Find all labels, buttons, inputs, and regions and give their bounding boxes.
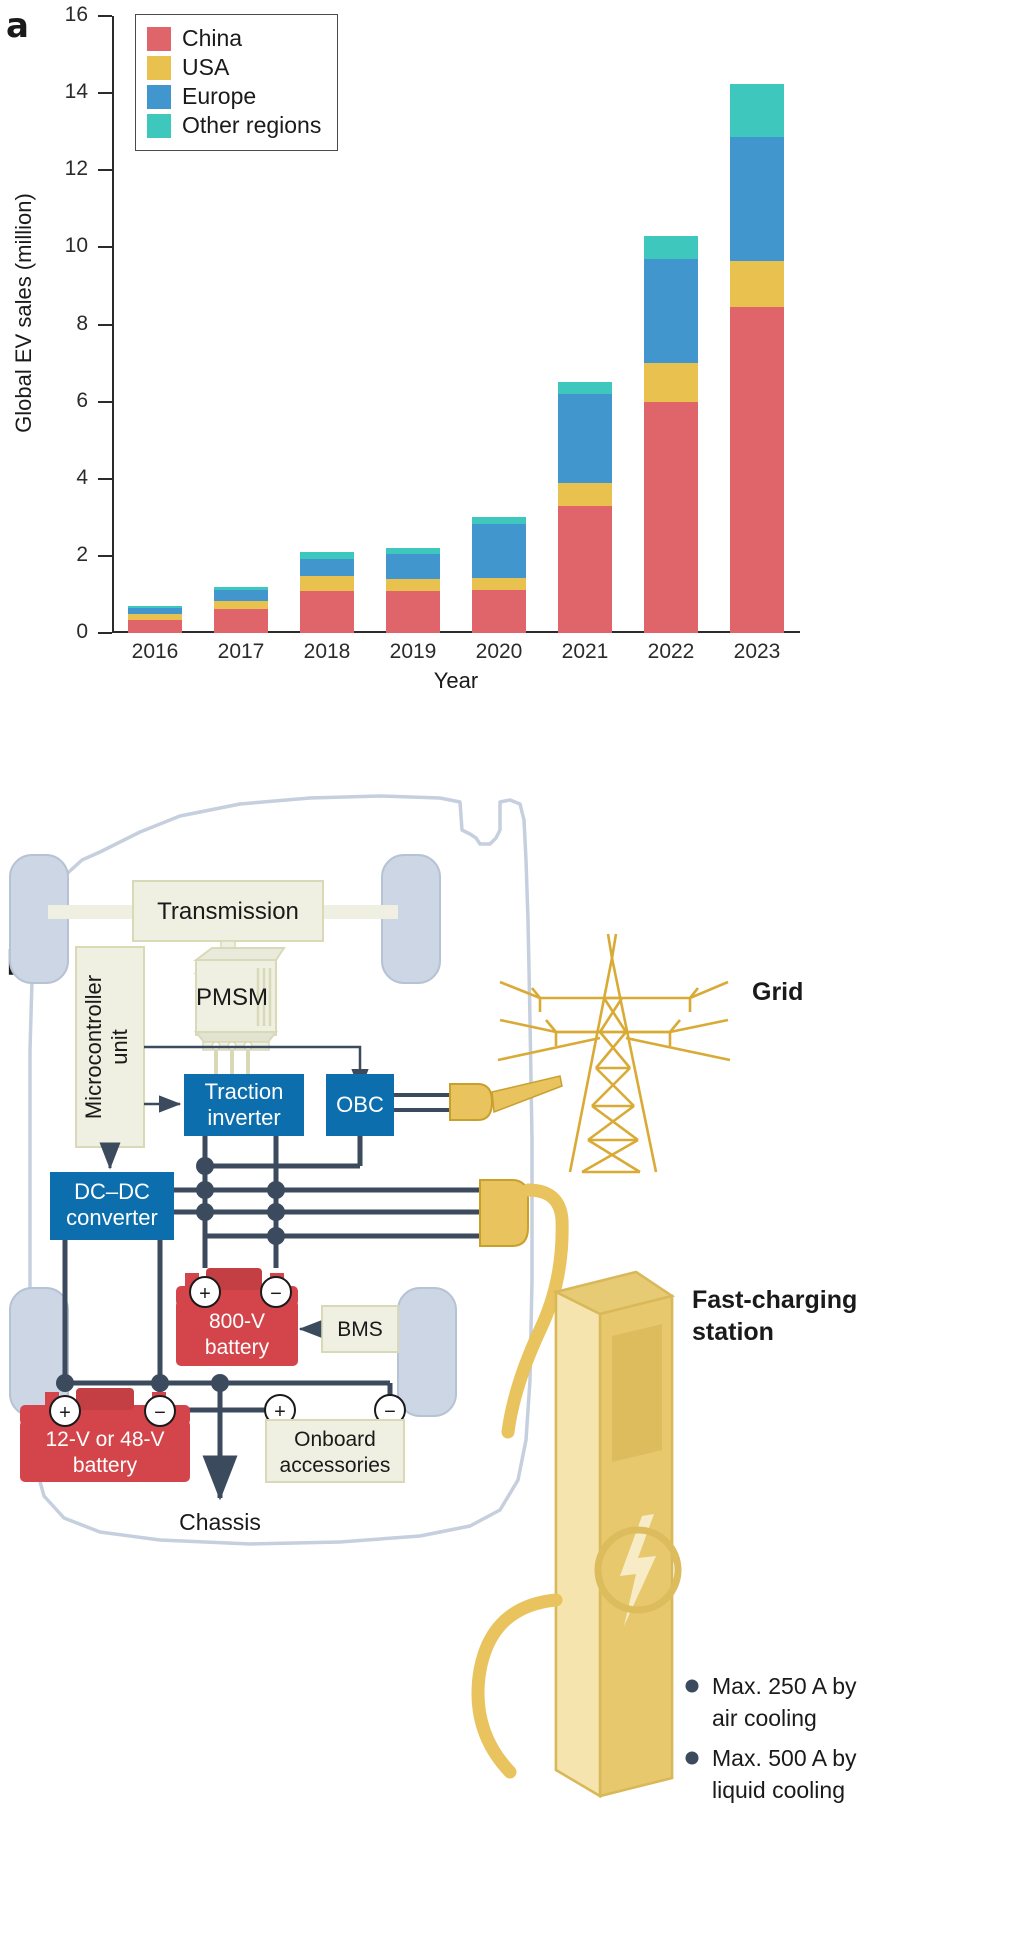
y-tick — [98, 169, 112, 171]
bar-group — [128, 606, 182, 633]
traction-inverter-label-line2: inverter — [207, 1105, 280, 1130]
bar-segment-other-regions — [214, 587, 268, 590]
y-tick — [98, 401, 112, 403]
ev-architecture-svg: Transmission PMSM — [0, 720, 1034, 1949]
bar-group — [730, 83, 784, 633]
y-tick — [98, 555, 112, 557]
microcontroller-unit-block: Microcontroller unit — [76, 947, 144, 1147]
x-tick-label: 2023 — [714, 640, 800, 664]
panel-a-label: a — [6, 6, 29, 46]
bar-segment-usa — [128, 614, 182, 620]
bar-segment-other-regions — [472, 517, 526, 524]
panel-b-diagram: b Transmission — [0, 720, 1034, 1949]
bar-segment-china — [214, 609, 268, 633]
chart-legend: ChinaUSAEuropeOther regions — [135, 14, 338, 151]
fast-charging-label-line2: station — [692, 1318, 774, 1346]
bullet-dot-1 — [686, 1680, 699, 1693]
legend-row: Europe — [147, 82, 321, 111]
bar-segment-europe — [644, 259, 698, 363]
x-tick-label: 2022 — [628, 640, 714, 664]
legend-label: Europe — [182, 85, 256, 108]
y-tick-label: 6 — [44, 389, 88, 413]
y-tick — [98, 246, 112, 248]
bar-segment-china — [644, 402, 698, 633]
bar-segment-usa — [300, 576, 354, 591]
x-tick-label: 2019 — [370, 640, 456, 664]
battery-12v-48v: + − 12-V or 48-V battery — [20, 1388, 190, 1482]
bar-group — [558, 382, 612, 633]
y-tick-label: 8 — [44, 312, 88, 336]
traction-inverter-label-line1: Traction — [205, 1079, 284, 1104]
bar-segment-china — [730, 307, 784, 633]
chassis-label: Chassis — [179, 1509, 261, 1535]
microcontroller-label-line2: unit — [107, 1029, 132, 1064]
y-tick-label: 16 — [44, 3, 88, 27]
obc-block: OBC — [326, 1074, 394, 1136]
dcdc-converter-block: DC–DC converter — [50, 1172, 174, 1240]
fast-charging-label-line1: Fast-charging — [692, 1286, 857, 1314]
battery-lv-plus-terminal: + — [59, 1402, 71, 1424]
battery-800v-label-line1: 800-V — [209, 1310, 265, 1333]
legend-label: USA — [182, 56, 229, 79]
bar-group — [214, 587, 268, 633]
legend-label: China — [182, 27, 242, 50]
x-tick-label: 2018 — [284, 640, 370, 664]
bar-segment-europe — [214, 590, 268, 601]
bar-group — [472, 517, 526, 633]
bar-segment-other-regions — [644, 236, 698, 259]
panel-a-chart: a Global EV sales (million) Year 0246810… — [0, 0, 1034, 720]
y-tick — [98, 92, 112, 94]
charging-spec-bullets: Max. 250 A by air cooling Max. 500 A by … — [686, 1673, 857, 1803]
bar-segment-china — [558, 506, 612, 633]
x-axis-title: Year — [112, 668, 800, 694]
wheel-rear-right — [398, 1288, 456, 1416]
bms-label: BMS — [337, 1318, 383, 1341]
obc-label: OBC — [336, 1092, 384, 1117]
y-tick — [98, 632, 112, 634]
bar-segment-china — [128, 620, 182, 633]
legend-swatch-icon — [147, 85, 171, 109]
transmission-block: Transmission — [133, 881, 323, 941]
grid-label: Grid — [752, 978, 803, 1006]
x-tick-label: 2017 — [198, 640, 284, 664]
accessories-label-line2: accessories — [280, 1454, 391, 1477]
bullet-2-line2: liquid cooling — [712, 1777, 845, 1803]
dcdc-label-line1: DC–DC — [74, 1179, 150, 1204]
battery-800v-minus-terminal: − — [270, 1283, 282, 1305]
dcdc-label-line2: converter — [66, 1205, 158, 1230]
bar-segment-europe — [730, 137, 784, 260]
x-tick-label: 2016 — [112, 640, 198, 664]
bar-segment-europe — [472, 524, 526, 578]
bar-segment-other-regions — [128, 606, 182, 608]
bar-segment-other-regions — [558, 382, 612, 394]
battery-lv-minus-terminal: − — [154, 1402, 166, 1424]
bar-segment-usa — [386, 579, 440, 591]
bar-segment-other-regions — [300, 552, 354, 559]
bar-segment-china — [386, 591, 440, 633]
bar-group — [300, 552, 354, 633]
battery-800v-plus-terminal: + — [199, 1283, 211, 1305]
bar-segment-other-regions — [730, 84, 784, 138]
bar-segment-usa — [644, 363, 698, 402]
battery-lv-label-line1: 12-V or 48-V — [45, 1428, 164, 1451]
legend-swatch-icon — [147, 56, 171, 80]
pmsm-label: PMSM — [196, 984, 268, 1011]
battery-800v-label-line2: battery — [205, 1336, 270, 1359]
bar-segment-usa — [472, 578, 526, 590]
y-tick — [98, 478, 112, 480]
y-tick — [98, 15, 112, 17]
bar-segment-europe — [300, 559, 354, 576]
bar-segment-europe — [558, 394, 612, 483]
bar-segment-china — [472, 590, 526, 633]
bullet-2-line1: Max. 500 A by — [712, 1745, 857, 1771]
y-tick-label: 2 — [44, 543, 88, 567]
legend-row: China — [147, 24, 321, 53]
traction-inverter-block: Traction inverter — [184, 1074, 304, 1136]
bullet-1-line1: Max. 250 A by — [712, 1673, 857, 1699]
x-tick-label: 2021 — [542, 640, 628, 664]
transmission-label: Transmission — [157, 898, 299, 925]
bar-segment-other-regions — [386, 548, 440, 554]
y-tick-label: 0 — [44, 620, 88, 644]
bar-segment-usa — [730, 261, 784, 307]
y-axis-title: Global EV sales (million) — [11, 103, 37, 523]
legend-label: Other regions — [182, 114, 321, 137]
legend-row: USA — [147, 53, 321, 82]
bar-segment-usa — [214, 601, 268, 609]
accessories-label-line1: Onboard — [294, 1428, 376, 1451]
y-tick-label: 12 — [44, 157, 88, 181]
legend-swatch-icon — [147, 114, 171, 138]
y-tick — [98, 324, 112, 326]
x-tick-label: 2020 — [456, 640, 542, 664]
legend-swatch-icon — [147, 27, 171, 51]
bullet-dot-2 — [686, 1752, 699, 1765]
bar-segment-europe — [128, 608, 182, 614]
y-tick-label: 14 — [44, 80, 88, 104]
legend-row: Other regions — [147, 111, 321, 140]
bar-segment-europe — [386, 554, 440, 579]
microcontroller-label-line1: Microcontroller — [81, 975, 106, 1119]
bar-group — [386, 548, 440, 633]
bar-segment-china — [300, 591, 354, 633]
battery-800v: + − 800-V battery — [176, 1268, 298, 1366]
y-tick-label: 4 — [44, 466, 88, 490]
battery-lv-label-line2: battery — [73, 1454, 138, 1477]
bar-segment-usa — [558, 483, 612, 506]
y-tick-label: 10 — [44, 234, 88, 258]
bar-group — [644, 236, 698, 633]
bullet-1-line2: air cooling — [712, 1705, 817, 1731]
